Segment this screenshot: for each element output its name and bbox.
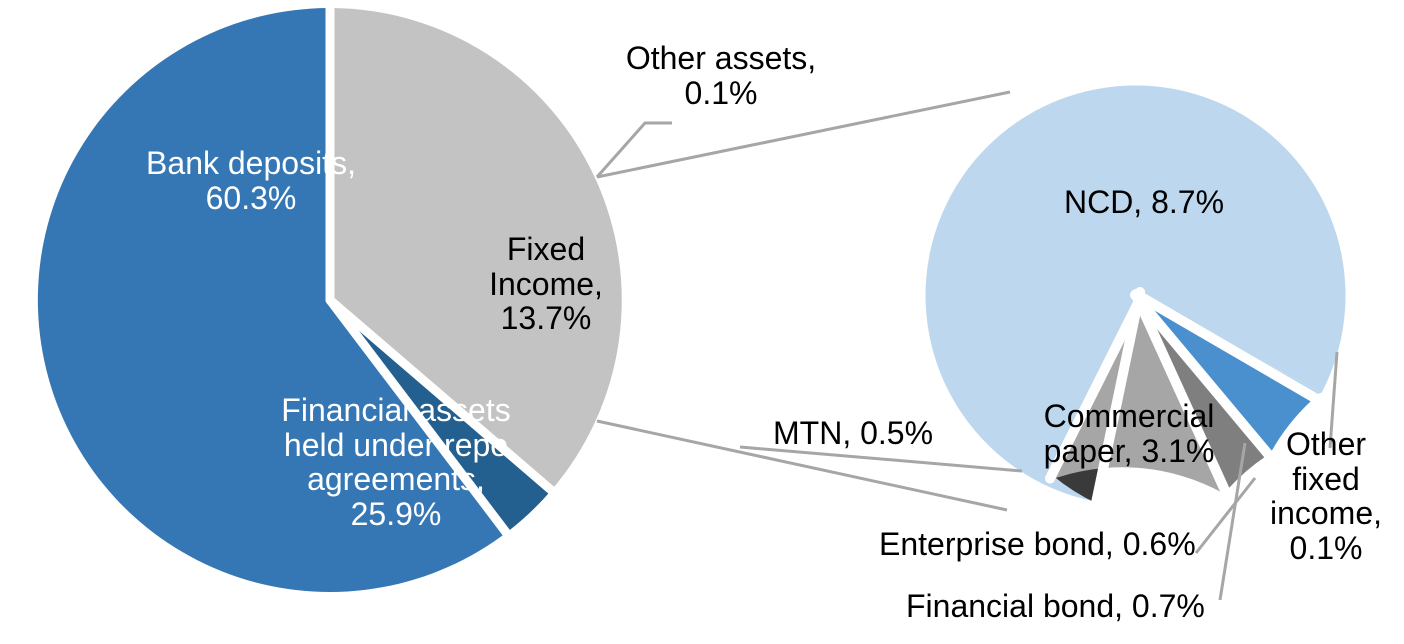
label-ncd: NCD, 8.7% (1049, 185, 1239, 220)
label-repo-agreements: Financial assetsheld under repoagreement… (253, 393, 539, 531)
label-mtn: MTN, 0.5% (773, 416, 963, 451)
label-enterprise-bond: Enterprise bond, 0.6% (879, 527, 1219, 562)
label-commercial-paper: Commercialpaper, 3.1% (1030, 399, 1228, 468)
label-other-fixed-income: Otherfixedincome,0.1% (1262, 427, 1390, 565)
label-fixed-income: FixedIncome,13.7% (472, 232, 620, 336)
label-bank-deposits: Bank deposits,60.3% (120, 146, 382, 215)
chart-canvas: Bank deposits,60.3% FixedIncome,13.7% Fi… (0, 0, 1404, 644)
label-financial-bond: Financial bond, 0.7% (906, 589, 1236, 624)
label-other-assets: Other assets,0.1% (608, 41, 834, 110)
